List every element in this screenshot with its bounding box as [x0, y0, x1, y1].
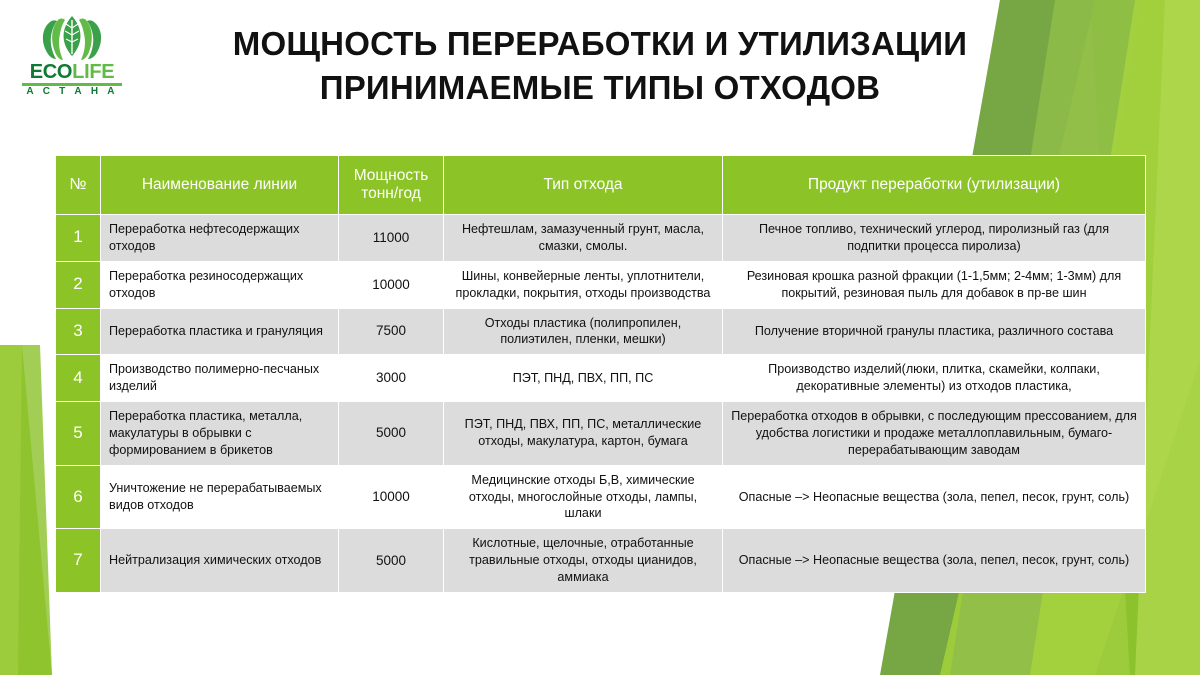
row-capacity: 5000: [339, 402, 444, 466]
row-capacity: 11000: [339, 215, 444, 262]
brand-subtitle: А С Т А Н А: [16, 86, 128, 97]
row-number: 4: [56, 355, 101, 402]
column-header-waste-type: Тип отхода: [444, 156, 723, 215]
brand-logo: ECOLIFE А С Т А Н А: [16, 14, 128, 96]
row-waste-type: Нефтешлам, замазученный грунт, масла, см…: [444, 215, 723, 262]
slide-root: ECOLIFE А С Т А Н А МОЩНОСТЬ ПЕРЕРАБОТКИ…: [0, 0, 1200, 675]
table-row: 7 Нейтрализация химических отходов 5000 …: [56, 529, 1146, 593]
row-product: Опасные –> Неопасные вещества (зола, пеп…: [723, 529, 1146, 593]
table-row: 1 Переработка нефтесодержащих отходов 11…: [56, 215, 1146, 262]
row-line-name: Нейтрализация химических отходов: [101, 529, 339, 593]
row-line-name: Производство полимерно-песчаных изделий: [101, 355, 339, 402]
brand-name-life: LIFE: [72, 61, 114, 83]
table-row: 5 Переработка пластика, металла, макулат…: [56, 402, 1146, 466]
row-number: 5: [56, 402, 101, 466]
table-row: 3 Переработка пластика и грануляция 7500…: [56, 308, 1146, 355]
table-row: 2 Переработка резиносодержащих отходов 1…: [56, 261, 1146, 308]
row-capacity: 10000: [339, 465, 444, 529]
row-number: 2: [56, 261, 101, 308]
brand-wordmark: ECOLIFE: [16, 62, 128, 82]
row-capacity: 3000: [339, 355, 444, 402]
brand-name-eco: ECO: [30, 61, 72, 83]
leaf-in-hands-icon: [36, 14, 108, 62]
row-product: Переработка отходов в обрывки, с последу…: [723, 402, 1146, 466]
row-number: 6: [56, 465, 101, 529]
row-line-name: Переработка пластика, металла, макулатур…: [101, 402, 339, 466]
row-product: Производство изделий(люки, плитка, скаме…: [723, 355, 1146, 402]
row-number: 3: [56, 308, 101, 355]
column-header-capacity-line-1: Мощность: [354, 167, 429, 184]
row-number: 7: [56, 529, 101, 593]
table-header-row: № Наименование линии Мощность тонн/год Т…: [56, 156, 1146, 215]
row-line-name: Уничтожение не перерабатываемых видов от…: [101, 465, 339, 529]
row-waste-type: Отходы пластика (полипропилен, полиэтиле…: [444, 308, 723, 355]
row-number: 1: [56, 215, 101, 262]
page-title-line-2: ПРИНИМАЕМЫЕ ТИПЫ ОТХОДОВ: [150, 66, 1050, 110]
row-waste-type: Медицинские отходы Б,В, химические отход…: [444, 465, 723, 529]
row-waste-type: ПЭТ, ПНД, ПВХ, ПП, ПС: [444, 355, 723, 402]
capacity-table-container: № Наименование линии Мощность тонн/год Т…: [55, 155, 1145, 593]
row-line-name: Переработка пластика и грануляция: [101, 308, 339, 355]
row-product: Печное топливо, технический углерод, пир…: [723, 215, 1146, 262]
row-capacity: 10000: [339, 261, 444, 308]
column-header-capacity: Мощность тонн/год: [339, 156, 444, 215]
column-header-number: №: [56, 156, 101, 215]
table-row: 4 Производство полимерно-песчаных издели…: [56, 355, 1146, 402]
column-header-product: Продукт переработки (утилизации): [723, 156, 1146, 215]
table-row: 6 Уничтожение не перерабатываемых видов …: [56, 465, 1146, 529]
row-line-name: Переработка нефтесодержащих отходов: [101, 215, 339, 262]
table-header: № Наименование линии Мощность тонн/год Т…: [56, 156, 1146, 215]
page-title: МОЩНОСТЬ ПЕРЕРАБОТКИ И УТИЛИЗАЦИИ ПРИНИМ…: [150, 22, 1050, 110]
table-body: 1 Переработка нефтесодержащих отходов 11…: [56, 215, 1146, 593]
row-capacity: 5000: [339, 529, 444, 593]
page-title-line-1: МОЩНОСТЬ ПЕРЕРАБОТКИ И УТИЛИЗАЦИИ: [150, 22, 1050, 66]
row-waste-type: Шины, конвейерные ленты, уплотнители, пр…: [444, 261, 723, 308]
row-product: Получение вторичной гранулы пластика, ра…: [723, 308, 1146, 355]
row-product: Резиновая крошка разной фракции (1-1,5мм…: [723, 261, 1146, 308]
row-line-name: Переработка резиносодержащих отходов: [101, 261, 339, 308]
column-header-capacity-line-2: тонн/год: [361, 185, 421, 202]
capacity-table: № Наименование линии Мощность тонн/год Т…: [55, 155, 1146, 593]
row-capacity: 7500: [339, 308, 444, 355]
row-waste-type: Кислотные, щелочные, отработанные травил…: [444, 529, 723, 593]
column-header-line-name: Наименование линии: [101, 156, 339, 215]
row-waste-type: ПЭТ, ПНД, ПВХ, ПП, ПС, металлические отх…: [444, 402, 723, 466]
row-product: Опасные –> Неопасные вещества (зола, пеп…: [723, 465, 1146, 529]
